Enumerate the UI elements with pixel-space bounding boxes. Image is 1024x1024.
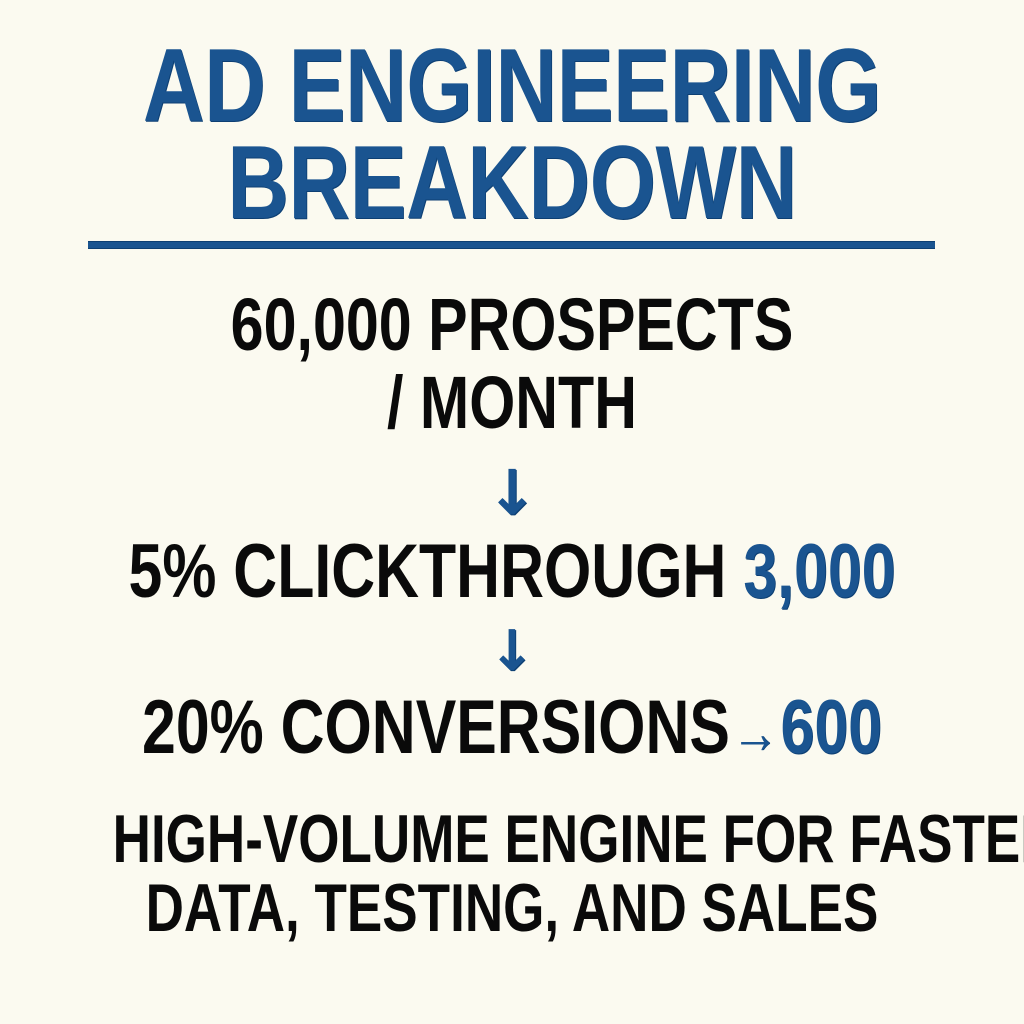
funnel-step-2-value: 3,000: [743, 529, 895, 614]
title-line-1: AD ENGINEERING: [92, 38, 932, 135]
funnel-step-3: 20% CONVERSIONS→600: [102, 690, 921, 766]
funnel-flow: 60,000 PROSPECTS / MONTH ↓ 5% CLICKTHROU…: [0, 288, 1024, 766]
title-line-2: BREAKDOWN: [92, 135, 932, 232]
page-title: AD ENGINEERING BREAKDOWN: [0, 38, 1024, 231]
funnel-step-1-line-2: / MONTH: [102, 366, 921, 440]
arrow-down-icon: ↓: [0, 462, 1024, 524]
funnel-step-1-line-1: 60,000 PROSPECTS: [102, 288, 921, 362]
funnel-step-3-value: 600: [781, 685, 882, 770]
title-divider: [88, 241, 935, 249]
tagline: HIGH-VOLUME ENGINE FOR FASTER DATA, TEST…: [0, 805, 1024, 944]
funnel-step-3-label: 20% CONVERSIONS: [142, 685, 730, 770]
tagline-line-1: HIGH-VOLUME ENGINE FOR FASTER: [113, 805, 912, 874]
arrow-right-icon: →: [730, 699, 781, 766]
ad-engineering-breakdown-poster: AD ENGINEERING BREAKDOWN 60,000 PROSPECT…: [0, 0, 1024, 1024]
funnel-step-2: 5% CLICKTHROUGH 3,000: [102, 534, 921, 610]
tagline-line-2: DATA, TESTING, AND SALES: [113, 874, 912, 943]
funnel-step-2-label: 5% CLICKTHROUGH: [129, 529, 727, 614]
arrow-down-icon: ↓: [0, 624, 1024, 680]
